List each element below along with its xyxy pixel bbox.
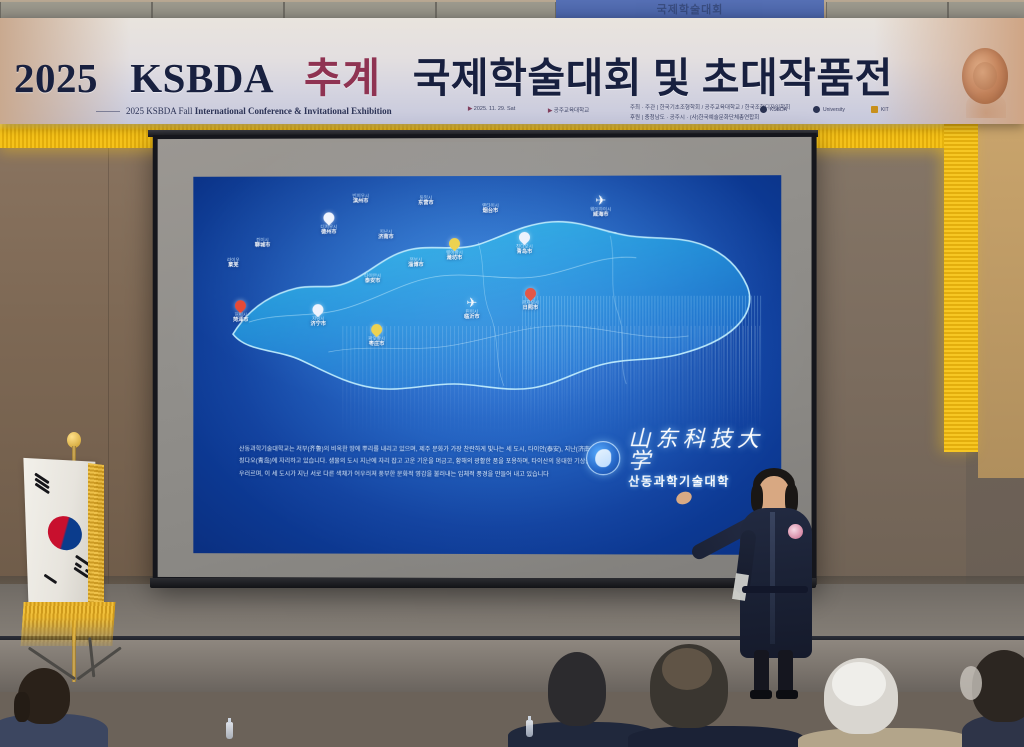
water-bottle [226, 722, 233, 739]
map-city-qingdao: 칭다오시 青岛市 [516, 232, 533, 255]
presenter-leg-left [754, 650, 769, 694]
map-city-rizhao: 르자오시 日照市 [522, 288, 539, 311]
airplane-icon: ✈ [466, 296, 477, 309]
audience-hair [14, 692, 30, 722]
stage-floor [0, 584, 1024, 642]
slide-paragraph: 산동과학기술대학교는 저부(齐鲁)의 비옥한 땅에 뿌리를 내리고 있으며, 제… [239, 444, 598, 482]
projected-slide: 더저우시 德州市 린이시 聊城市 지난시 济南市 빈저우시 滨州市 둥잉시 [193, 175, 781, 555]
location-pin-icon [310, 302, 325, 318]
location-pin-icon [517, 230, 533, 246]
audience-head-highlight [832, 662, 886, 706]
map-city-liaocheng: 린이시 聊城市 [255, 238, 270, 248]
map-city-binzhou: 빈저우시 滨州市 [352, 194, 369, 204]
banner-venue: ▶ 공주교육대학교 [548, 106, 589, 114]
conference-photo-scene: 국제학술대회 2025 KSBDA 추계 국제학술대회 및 초대작품전 2025… [0, 0, 1024, 747]
location-pin-icon [523, 286, 539, 302]
map-city-weifang: 웨이팡시 潍坊市 [446, 238, 463, 261]
map-city-laiwu: 라이우 莱芜 [227, 258, 240, 268]
taeguk-symbol-icon [42, 510, 88, 555]
sponsor-logo-2: University [813, 106, 845, 113]
map-city-yantai: 옌타이시 烟台市 [482, 204, 499, 214]
banner-title: 2025 KSBDA 추계 국제학술대회 및 초대작품전 [14, 44, 893, 104]
map-city-weihai: ✈ 웨이하이시 威海市 [590, 194, 611, 218]
banner-title-year: 2025 [14, 55, 98, 101]
south-korea-flag [10, 424, 130, 700]
banner-subtitle-bold: International Conference & Invitational … [195, 106, 392, 116]
map-ridge-columns-secondary [522, 296, 763, 427]
presenter-speaker [700, 468, 850, 693]
presenter-corsage [788, 524, 803, 539]
presenter-coat-belt [742, 586, 808, 593]
sponsor-logo-3: KIT [871, 106, 889, 113]
map-city-linyi: ✈ 린이시 临沂市 [464, 296, 480, 320]
airplane-icon: ✈ [595, 194, 606, 207]
wall-far-right [978, 118, 1024, 478]
circular-seal-emblem-reflection [966, 92, 1006, 118]
audience-shoulders [798, 728, 972, 747]
university-name-chinese: 山东科技大学 [628, 428, 781, 472]
cove-light-right [944, 122, 978, 452]
flag-fringe-bottom [20, 602, 115, 646]
audience-head [548, 652, 606, 726]
event-banner: 2025 KSBDA 추계 국제학술대회 및 초대작품전 2025 KSBDA … [0, 18, 1024, 124]
banner-subtitle-plain: 2025 KSBDA Fall [126, 106, 193, 116]
banner-sponsor-logos: KSBDA University KIT [760, 106, 889, 113]
location-pin-icon [369, 322, 385, 338]
map-city-dongying: 둥잉시 东营市 [418, 196, 434, 206]
map-city-zaozhuang: 짜오좡시 枣庄市 [368, 324, 385, 347]
map-city-dezhou: 더저우시 德州市 [320, 212, 337, 235]
flag-fringe-side [88, 463, 104, 615]
location-pin-icon [447, 236, 463, 252]
university-seal-icon [586, 441, 620, 475]
location-pin-icon [233, 298, 248, 313]
ceiling-sign-label: 국제학술대회 [556, 1, 824, 17]
presenter-leg-right [778, 650, 793, 694]
audience-shoulders [628, 726, 804, 747]
map-city-jinan: 지난시 济南市 [378, 230, 394, 240]
presenter-shoe-left [750, 690, 772, 699]
map-city-heze: 허쩌시 菏泽市 [233, 300, 248, 323]
map-city-jining: 지닝시 济宁市 [310, 304, 325, 327]
location-pin-icon [321, 210, 336, 226]
map-city-taian: 타이안시 泰安市 [364, 274, 381, 284]
sponsor-logo-1: KSBDA [760, 106, 787, 113]
banner-subtitle-rule [96, 111, 120, 112]
banner-title-korean-accent: 추계 [304, 55, 380, 101]
water-bottle [526, 720, 533, 737]
banner-date: ▶ 2025. 11. 29. Sat [468, 106, 515, 112]
presenter-coat-lapel [770, 512, 775, 644]
audience-head-highlight [662, 648, 712, 690]
map-city-zibo: 쯔보시 淄博市 [408, 258, 424, 268]
banner-subtitle: 2025 KSBDA Fall International Conference… [96, 106, 392, 116]
presenter-shoe-right [776, 690, 798, 699]
audience-head-highlight [960, 666, 982, 700]
banner-detail-line-2: 후원 | 충청남도 · 공주시 · (사)한국예술문화단체총연합회 [630, 113, 759, 121]
banner-title-acronym: KSBDA [130, 55, 272, 101]
banner-title-korean-main: 국제학술대회 및 초대작품전 [413, 55, 893, 101]
